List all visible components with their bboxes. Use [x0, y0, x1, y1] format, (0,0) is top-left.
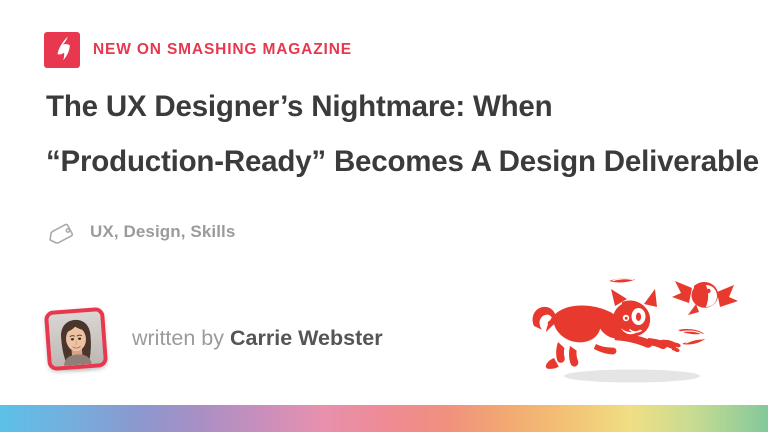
headline-line-2: “Production-Ready” Becomes A Design Deli… — [46, 147, 736, 177]
rainbow-footer-bar — [0, 405, 768, 432]
article-tags[interactable]: UX, Design, Skills — [48, 215, 235, 247]
tag-icon — [48, 216, 78, 246]
article-promo-card: New on Smashing Magazine The UX Designer… — [0, 0, 768, 432]
article-headline: The UX Designer’s Nightmare: When “Produ… — [46, 92, 736, 176]
byline: written by Carrie Webster — [132, 328, 383, 354]
kicker-label: New on Smashing Magazine — [93, 42, 352, 58]
avatar — [40, 304, 112, 378]
smashing-s-logo-icon — [44, 32, 80, 68]
author-byline-row[interactable]: written by Carrie Webster — [40, 302, 383, 380]
headline-line-1: The UX Designer’s Nightmare: When — [46, 92, 736, 122]
author-name: Carrie Webster — [230, 326, 383, 350]
running-cat-chasing-bird-illustration — [526, 258, 750, 388]
tags-label: UX, Design, Skills — [90, 223, 235, 240]
avatar-frame — [44, 307, 108, 371]
brand-kicker-row: New on Smashing Magazine — [44, 30, 352, 70]
byline-prefix: written by — [132, 326, 224, 350]
